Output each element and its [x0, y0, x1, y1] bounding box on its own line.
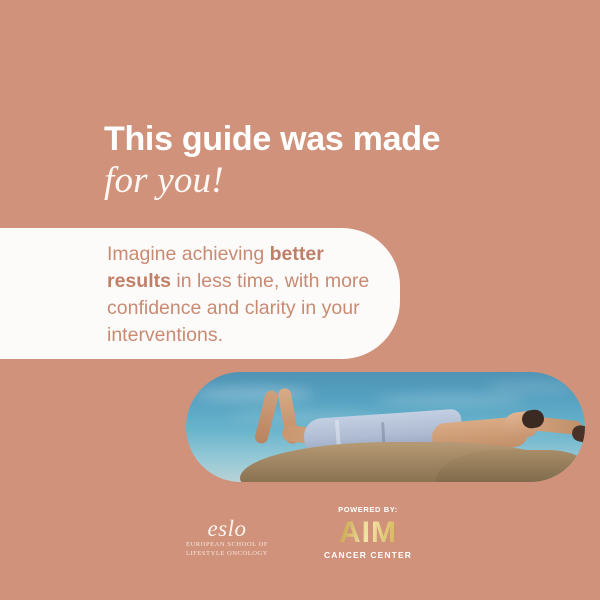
headline-line-1: This guide was made — [104, 118, 564, 160]
footer-logos: eslo European School of Lifestyle Oncolo… — [0, 500, 600, 560]
cloud-shape — [376, 394, 526, 406]
eslo-logo: eslo European School of Lifestyle Oncolo… — [172, 517, 282, 560]
aim-logo: Powered by: AIM Cancer Center — [308, 505, 428, 560]
eslo-wordmark: eslo — [172, 517, 282, 540]
body-text-segment-1: Imagine achieving — [107, 243, 270, 265]
cloud-shape — [486, 380, 576, 394]
headline-block: This guide was made for you! — [104, 118, 564, 204]
powered-by-label: Powered by: — [308, 505, 428, 514]
eslo-subtitle-line-2: Lifestyle Oncology — [172, 550, 282, 558]
aim-subtitle: Cancer Center — [308, 550, 428, 560]
cloud-shape — [194, 386, 314, 402]
photo-sky — [186, 372, 585, 482]
headline-line-2: for you! — [104, 158, 564, 204]
eslo-subtitle-line-1: European School of — [172, 541, 282, 549]
body-text-card: Imagine achieving better results in less… — [0, 228, 400, 359]
body-text: Imagine achieving better results in less… — [107, 241, 382, 349]
aim-wordmark: AIM — [308, 518, 428, 548]
hero-photo — [186, 372, 585, 482]
slide-canvas: This guide was made for you! Imagine ach… — [0, 0, 600, 600]
